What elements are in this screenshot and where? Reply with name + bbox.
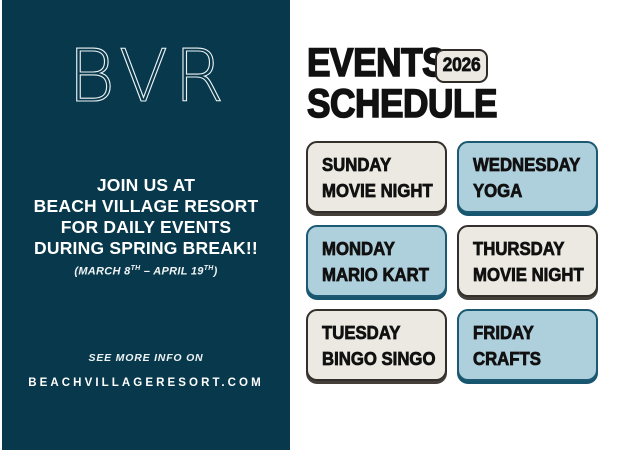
events-schedule-poster: BVR JOIN US AT BEACH VILLAGE RESORT FOR … bbox=[0, 0, 640, 457]
event-card-day: WEDNESDAY bbox=[473, 152, 587, 178]
title-word-schedule: SCHEDULE bbox=[307, 84, 497, 124]
event-card-friday[interactable]: FRIDAY CRAFTS bbox=[457, 309, 598, 381]
event-card-event: MOVIE NIGHT bbox=[322, 178, 436, 204]
date-ordinal-start: TH bbox=[131, 265, 141, 272]
date-range-prefix: (MARCH 8 bbox=[74, 266, 130, 278]
event-card-day: TUESDAY bbox=[322, 320, 436, 346]
see-more-label: SEE MORE INFO ON bbox=[2, 352, 290, 364]
title-word-events: EVENTS bbox=[307, 43, 445, 83]
title-row-2: SCHEDULE bbox=[307, 84, 627, 125]
date-range: (MARCH 8TH – APRIL 19TH) bbox=[2, 265, 290, 278]
year-badge: 2026 bbox=[435, 49, 488, 83]
event-card-event: YOGA bbox=[473, 178, 587, 204]
headline-line-3: FOR DAILY EVENTS bbox=[2, 217, 290, 238]
event-card-day: SUNDAY bbox=[322, 152, 436, 178]
headline-block: JOIN US AT BEACH VILLAGE RESORT FOR DAIL… bbox=[2, 175, 290, 278]
event-card-tuesday[interactable]: TUESDAY BINGO SINGO bbox=[306, 309, 447, 381]
event-card-event: CRAFTS bbox=[473, 346, 587, 372]
schedule-panel: EVENTS 2026 SCHEDULE SUNDAY MOVIE NIGHT … bbox=[290, 0, 640, 457]
event-card-grid: SUNDAY MOVIE NIGHT WEDNESDAY YOGA MONDAY… bbox=[306, 141, 598, 381]
date-range-suffix: ) bbox=[214, 266, 218, 278]
event-card-event: BINGO SINGO bbox=[322, 346, 436, 372]
headline-line-2: BEACH VILLAGE RESORT bbox=[2, 196, 290, 217]
title-row-1: EVENTS 2026 bbox=[307, 43, 627, 84]
event-card-day: THURSDAY bbox=[473, 236, 587, 262]
website-url[interactable]: BEACHVILLAGERESORT.COM bbox=[2, 377, 290, 389]
footer-block: SEE MORE INFO ON BEACHVILLAGERESORT.COM bbox=[2, 352, 290, 389]
event-card-event: MARIO KART bbox=[322, 262, 436, 288]
brand-logo: BVR bbox=[2, 40, 290, 112]
event-card-day: MONDAY bbox=[322, 236, 436, 262]
brand-panel: BVR JOIN US AT BEACH VILLAGE RESORT FOR … bbox=[2, 0, 290, 450]
year-badge-text: 2026 bbox=[443, 55, 481, 77]
event-card-wednesday[interactable]: WEDNESDAY YOGA bbox=[457, 141, 598, 213]
event-card-sunday[interactable]: SUNDAY MOVIE NIGHT bbox=[306, 141, 447, 213]
date-range-middle: – APRIL 19 bbox=[141, 266, 204, 278]
event-card-day: FRIDAY bbox=[473, 320, 587, 346]
event-card-thursday[interactable]: THURSDAY MOVIE NIGHT bbox=[457, 225, 598, 297]
headline-line-1: JOIN US AT bbox=[2, 175, 290, 196]
date-ordinal-end: TH bbox=[204, 265, 214, 272]
event-card-event: MOVIE NIGHT bbox=[473, 262, 587, 288]
event-card-monday[interactable]: MONDAY MARIO KART bbox=[306, 225, 447, 297]
page-title: EVENTS 2026 SCHEDULE bbox=[307, 43, 627, 125]
headline-line-4: DURING SPRING BREAK!! bbox=[2, 238, 290, 259]
